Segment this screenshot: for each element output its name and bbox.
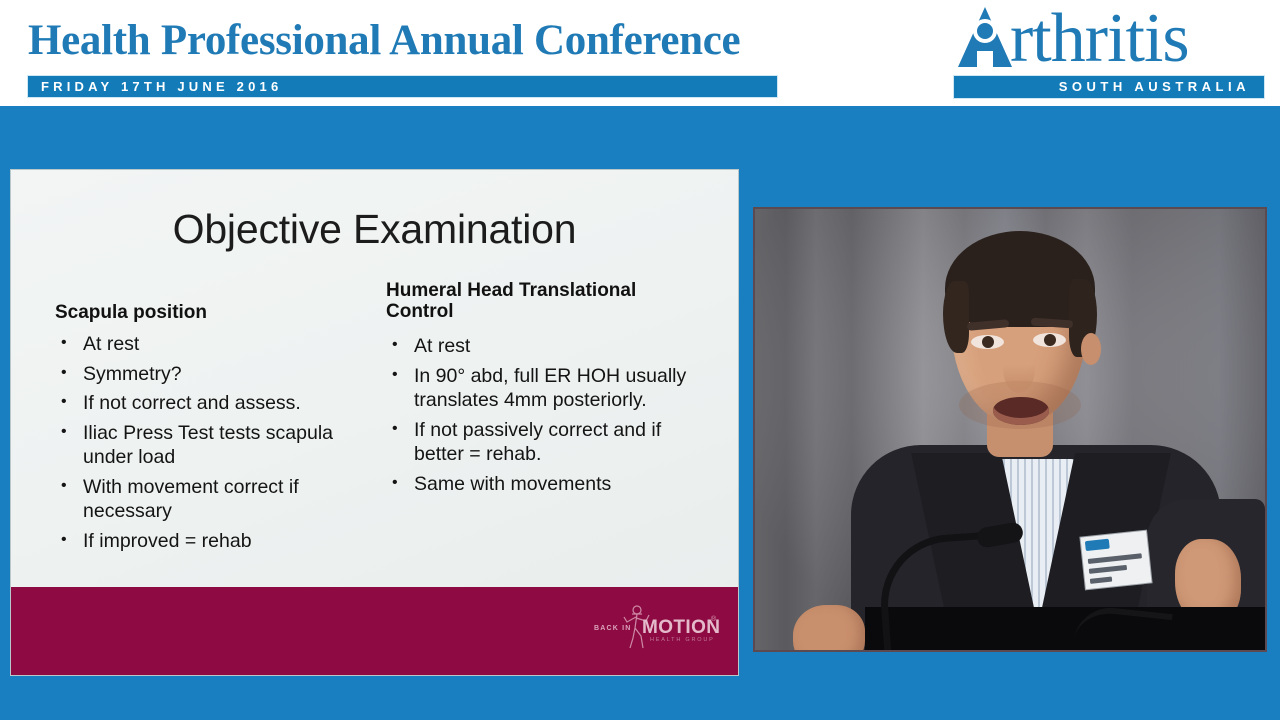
presenter-hand-left [793, 605, 865, 650]
presenter-ear [1081, 333, 1101, 365]
arthritis-person-a-icon [952, 5, 1018, 73]
presenter-figure [755, 209, 1265, 650]
badge-logo [1085, 539, 1110, 551]
column-heading: Humeral Head Translational Control [386, 280, 701, 322]
arthritis-wordmark: rthritis [1010, 0, 1189, 79]
back-in-motion-logo: BACK IN MOTION ® HEALTH GROUP [592, 603, 720, 651]
logo-region-text: SOUTH AUSTRALIA [1059, 79, 1250, 94]
bullet-item: At rest [386, 334, 701, 359]
conference-date-bar: FRIDAY 17TH JUNE 2016 [28, 76, 777, 97]
back-in-text: BACK IN [594, 625, 632, 632]
slide-footer-bar: BACK IN MOTION ® HEALTH GROUP [11, 587, 738, 675]
eye-left [971, 335, 1004, 349]
conference-title: Health Professional Annual Conference [28, 16, 740, 65]
badge-text-line [1089, 565, 1127, 574]
presenter-nose [1003, 345, 1035, 393]
column-heading: Scapula position [55, 302, 375, 323]
presentation-screenshot: Health Professional Annual Conference FR… [0, 0, 1280, 720]
bullet-item: With movement correct if necessary [55, 475, 375, 524]
bullet-item: At rest [55, 332, 375, 357]
slide-panel: Objective Examination Scapula position A… [11, 170, 738, 675]
hair-side-left [943, 281, 969, 353]
slide-column-right: Humeral Head Translational Control At re… [386, 302, 701, 501]
bullet-item: If not passively correct and if better =… [386, 418, 701, 467]
bullet-item: Same with movements [386, 472, 701, 497]
logo-region-bar: SOUTH AUSTRALIA [954, 76, 1264, 98]
bullet-item: If improved = rehab [55, 529, 375, 554]
slide-column-left: Scapula position At rest Symmetry? If no… [55, 302, 375, 558]
badge-text-line [1088, 553, 1142, 564]
motion-text: MOTION [642, 617, 720, 639]
conference-date-text: FRIDAY 17TH JUNE 2016 [41, 79, 282, 94]
presenter-video[interactable] [755, 209, 1265, 650]
bullet-item: Symmetry? [55, 362, 375, 387]
bullet-list: At rest In 90° abd, full ER HOH usually … [386, 334, 701, 496]
page-header: Health Professional Annual Conference FR… [0, 0, 1280, 106]
name-badge [1080, 531, 1151, 590]
badge-text-line [1090, 577, 1112, 584]
bullet-list: At rest Symmetry? If not correct and ass… [55, 332, 375, 553]
arthritis-sa-logo: rthritis SOUTH AUSTRALIA [948, 3, 1266, 102]
bullet-item: Iliac Press Test tests scapula under loa… [55, 421, 375, 470]
eye-right [1033, 333, 1066, 347]
bullet-item: If not correct and assess. [55, 391, 375, 416]
bullet-item: In 90° abd, full ER HOH usually translat… [386, 364, 701, 413]
logo-tagline: HEALTH GROUP [650, 637, 715, 643]
registered-mark: ® [711, 616, 716, 623]
presenter-mouth [993, 397, 1049, 425]
slide-title: Objective Examination [11, 206, 738, 253]
